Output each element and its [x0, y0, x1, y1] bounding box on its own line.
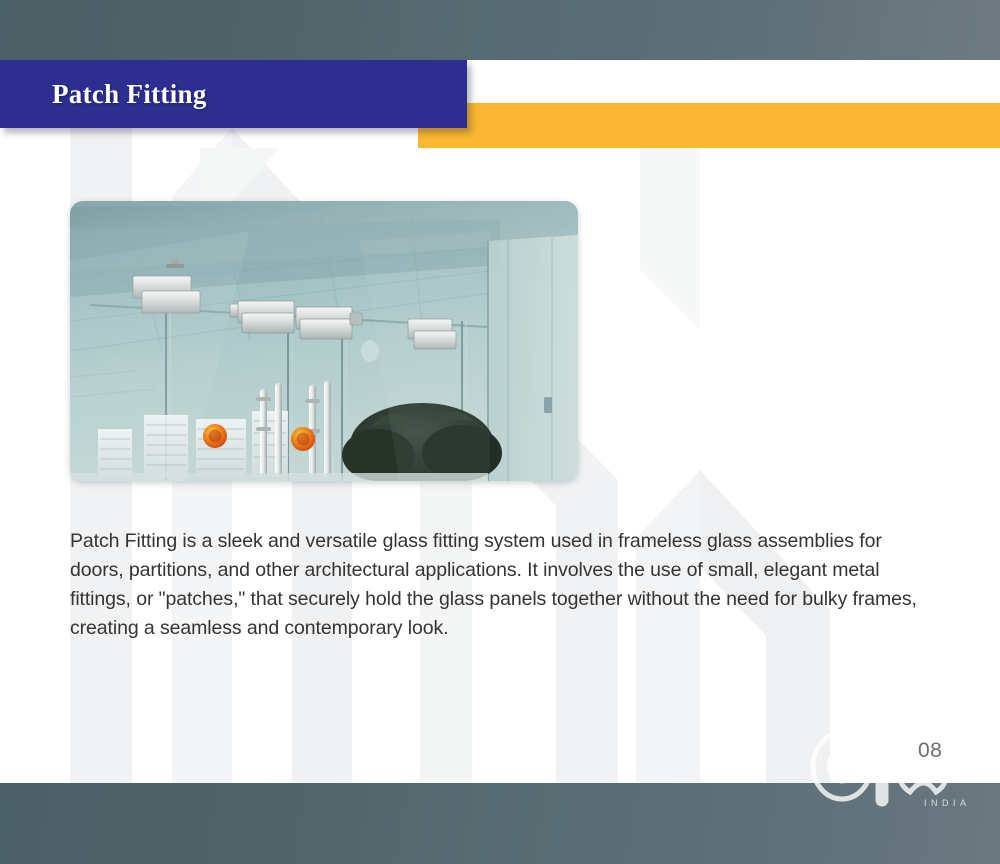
glass-door-photo [70, 201, 578, 481]
top-slate-bar [0, 0, 1000, 60]
page-number: 08 [918, 739, 942, 763]
slide-canvas: Patch Fitting [0, 0, 1000, 864]
glass-door-photo-illustration [70, 201, 578, 481]
bottom-slate-bar [0, 783, 1000, 864]
title-band: Patch Fitting [0, 60, 467, 128]
page-title: Patch Fitting [52, 79, 207, 110]
yellow-accent-bar [418, 103, 1000, 148]
patch-fitting-center-right [296, 307, 362, 339]
body-paragraph: Patch Fitting is a sleek and versatile g… [70, 527, 938, 643]
